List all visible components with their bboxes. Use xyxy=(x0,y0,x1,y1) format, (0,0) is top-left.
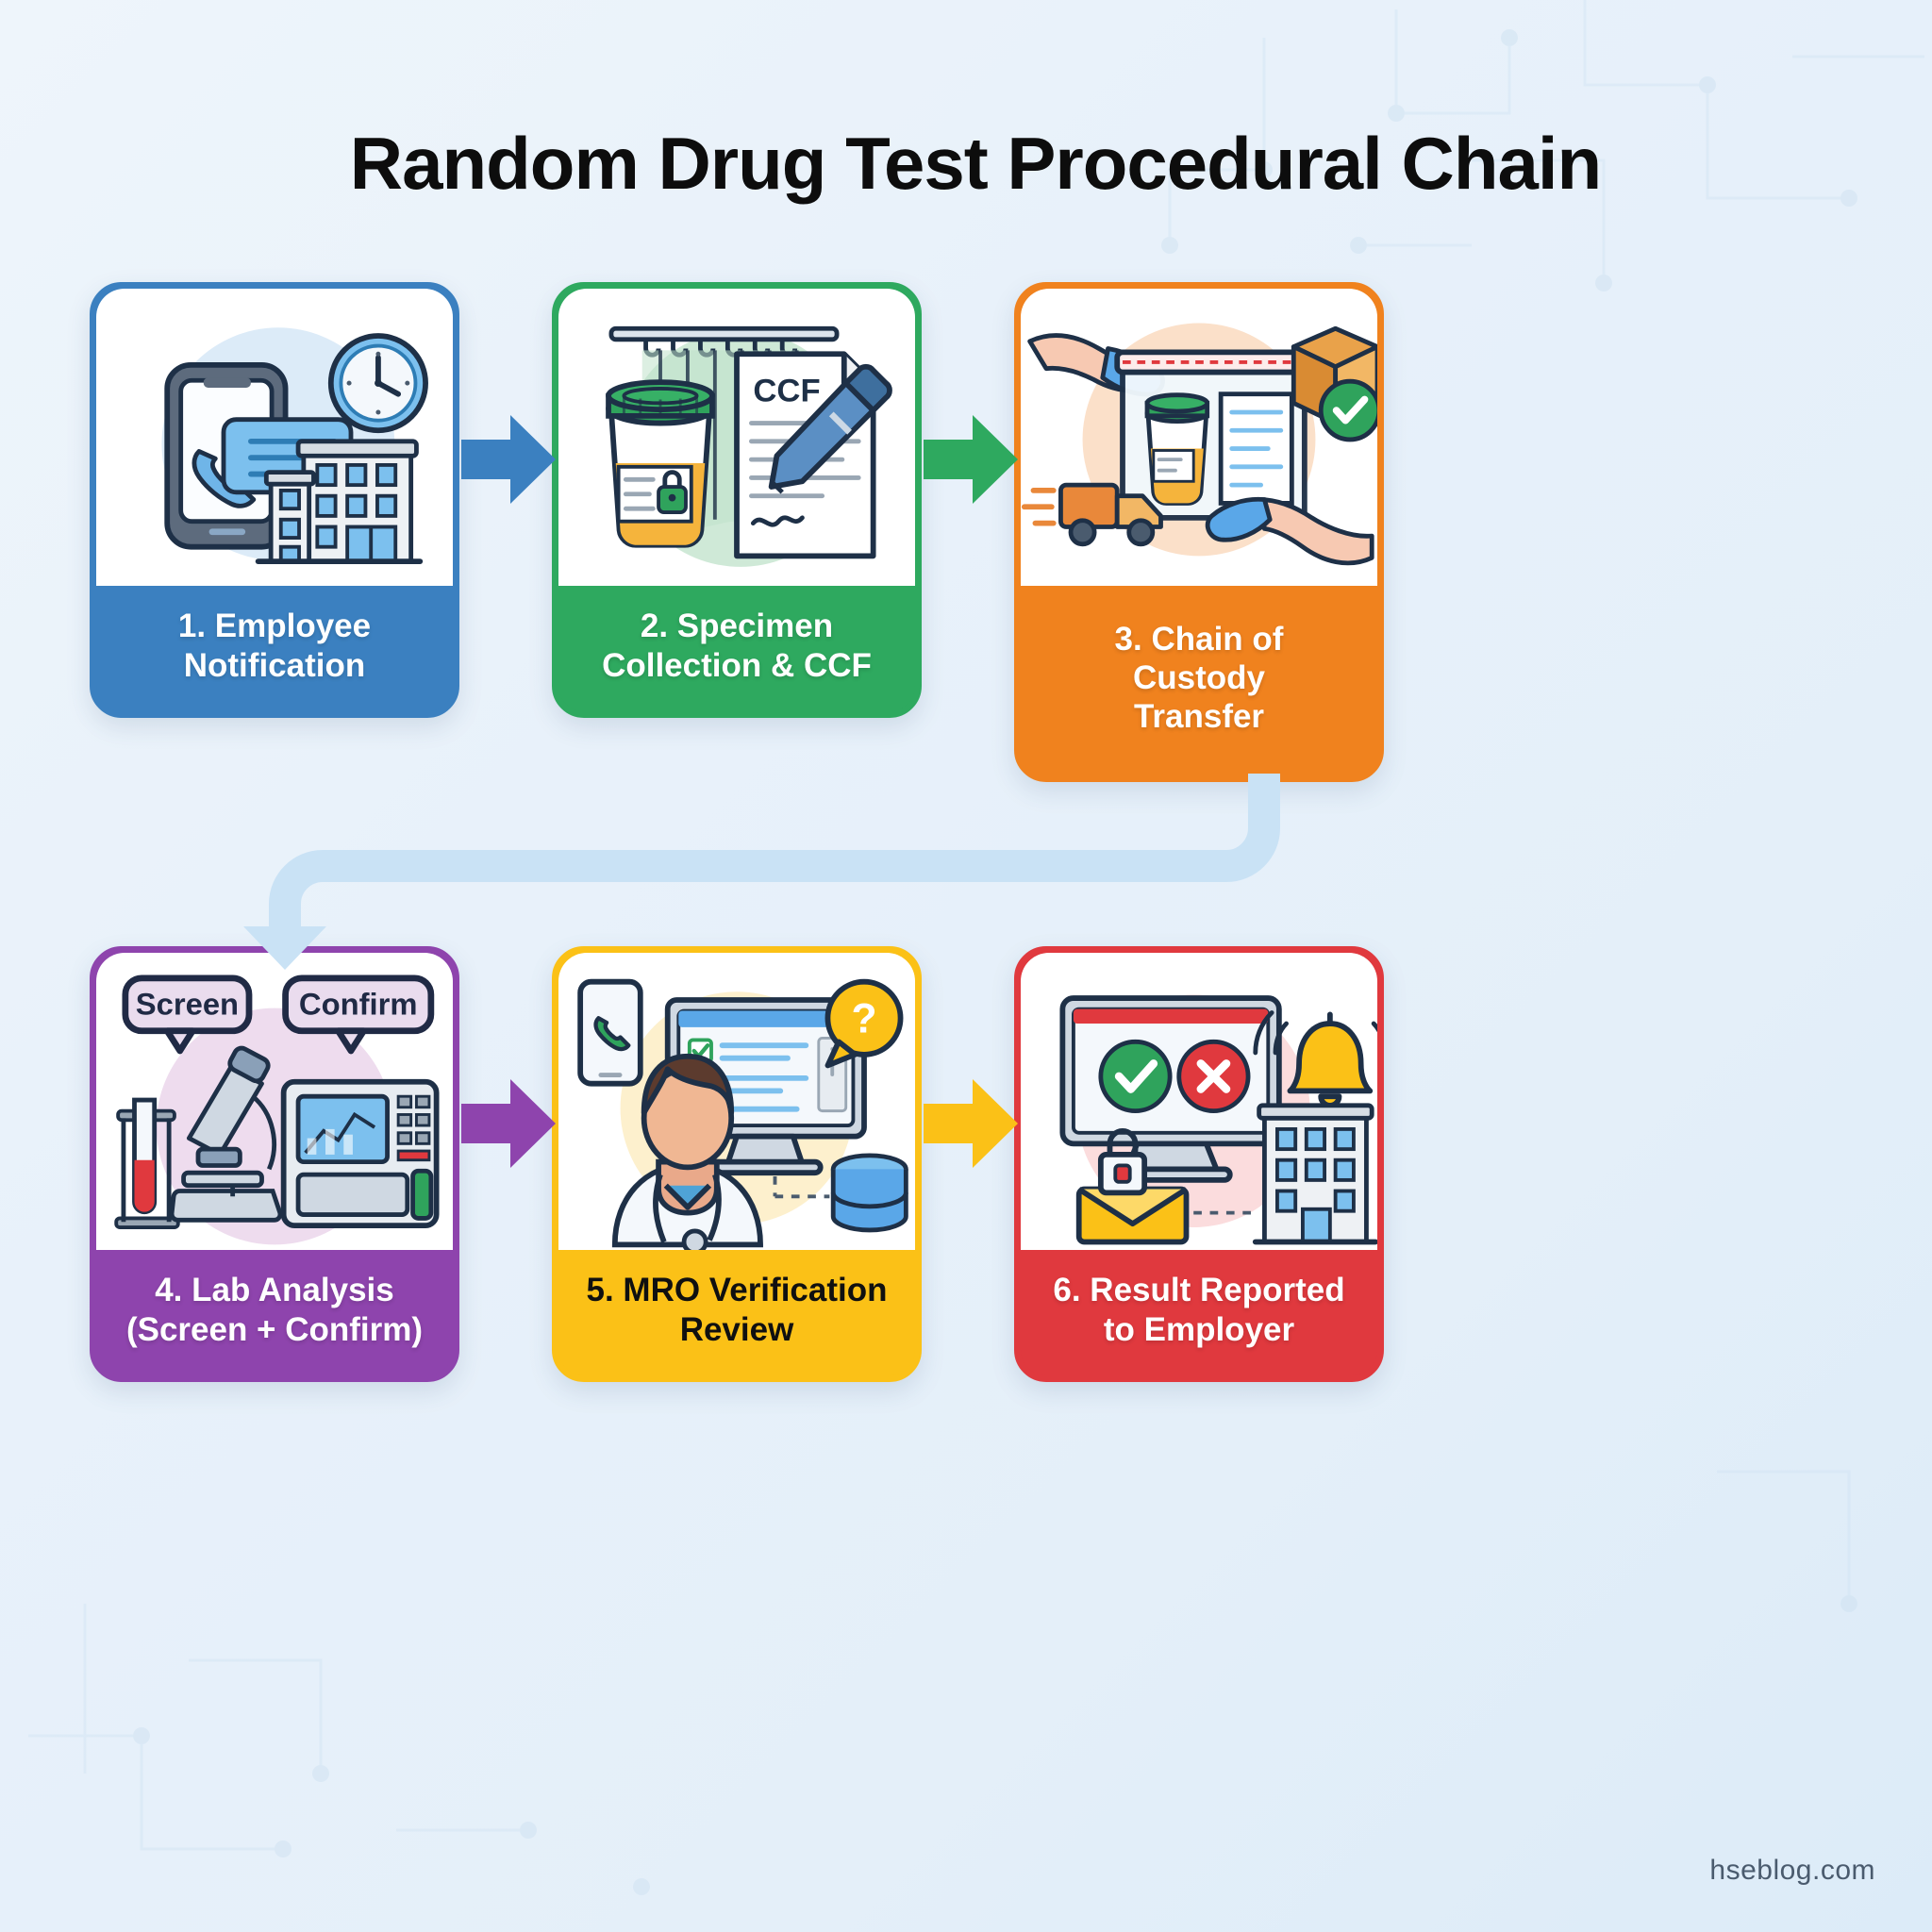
step-card-1-employee-notification[interactable]: 1. Employee Notification xyxy=(90,282,459,718)
step-1-line2: Notification xyxy=(184,647,365,684)
step-4-line1: 4. Lab Analysis xyxy=(155,1272,394,1308)
step-1-line1: 1. Employee xyxy=(178,608,371,644)
step-6-label: 6. Result Reported to Employer xyxy=(1021,1250,1377,1375)
step-3-line1: 3. Chain of xyxy=(1115,621,1284,658)
check-circle-icon xyxy=(1101,1041,1170,1110)
question-mark-glyph: ? xyxy=(851,996,876,1042)
step-3-illustration xyxy=(1021,289,1377,586)
step-1-illustration xyxy=(96,289,453,586)
database-icon xyxy=(833,1156,906,1230)
step-4-line2: (Screen + Confirm) xyxy=(126,1311,423,1348)
step-4-label: 4. Lab Analysis (Screen + Confirm) xyxy=(96,1250,453,1375)
watermark: hseblog.com xyxy=(1709,1855,1875,1887)
cross-circle-icon xyxy=(1179,1041,1248,1110)
arrow-step-1-to-2 xyxy=(459,408,559,511)
office-building-icon xyxy=(1256,1106,1375,1242)
gloved-hand-icon xyxy=(1207,499,1372,563)
ccf-document-text: CCF xyxy=(753,373,820,408)
flow-board: 1. Employee Notification xyxy=(0,0,1932,1932)
step-card-4-lab-analysis[interactable]: Screen Confirm xyxy=(90,946,459,1382)
specimen-cup-icon xyxy=(608,382,712,545)
delivery-truck-icon xyxy=(1024,485,1161,544)
step-3-line3: Transfer xyxy=(1134,698,1264,735)
badge-screen-label: Screen xyxy=(136,986,239,1021)
analyzer-machine-icon xyxy=(284,1082,437,1225)
step-2-label: 2. Specimen Collection & CCF xyxy=(558,586,915,711)
step-6-line1: 6. Result Reported xyxy=(1053,1272,1344,1308)
question-bubble-icon: ? xyxy=(827,982,900,1066)
check-badge-icon xyxy=(1321,381,1377,440)
arrow-step-3-to-4-elbow xyxy=(236,774,1292,972)
step-card-3-chain-of-custody[interactable]: 3. Chain of Custody Transfer xyxy=(1014,282,1384,782)
step-card-2-specimen-collection[interactable]: CCF 2. Specimen Col xyxy=(552,282,922,718)
step-2-line1: 2. Specimen xyxy=(641,608,833,644)
step-3-line2: Custody xyxy=(1133,659,1265,696)
specimen-cup-icon xyxy=(1147,395,1207,504)
step-2-illustration: CCF xyxy=(558,289,915,586)
arrow-step-2-to-3 xyxy=(922,408,1022,511)
clock-icon xyxy=(331,336,425,430)
step-1-label: 1. Employee Notification xyxy=(96,586,453,711)
step-6-line2: to Employer xyxy=(1104,1311,1294,1348)
sealed-bag-icon xyxy=(1117,352,1309,518)
step-card-5-mro-verification[interactable]: ? xyxy=(552,946,922,1382)
test-tube-icon xyxy=(116,1100,178,1227)
smartphone-icon xyxy=(580,982,641,1084)
arrow-step-5-to-6 xyxy=(922,1072,1022,1175)
step-2-line2: Collection & CCF xyxy=(602,647,872,684)
step-5-label: 5. MRO Verification Review xyxy=(558,1250,915,1375)
step-5-illustration: ? xyxy=(558,953,915,1250)
custody-form-icon xyxy=(1221,394,1291,504)
arrow-step-4-to-5 xyxy=(459,1072,559,1175)
step-4-illustration: Screen Confirm xyxy=(96,953,453,1250)
step-card-6-result-reported[interactable]: 6. Result Reported to Employer xyxy=(1014,946,1384,1382)
step-5-line2: Review xyxy=(680,1311,794,1348)
step-5-line1: 5. MRO Verification xyxy=(587,1272,888,1308)
badge-confirm-label: Confirm xyxy=(299,986,418,1021)
step-3-label: 3. Chain of Custody Transfer xyxy=(1021,586,1377,775)
step-6-illustration xyxy=(1021,953,1377,1250)
